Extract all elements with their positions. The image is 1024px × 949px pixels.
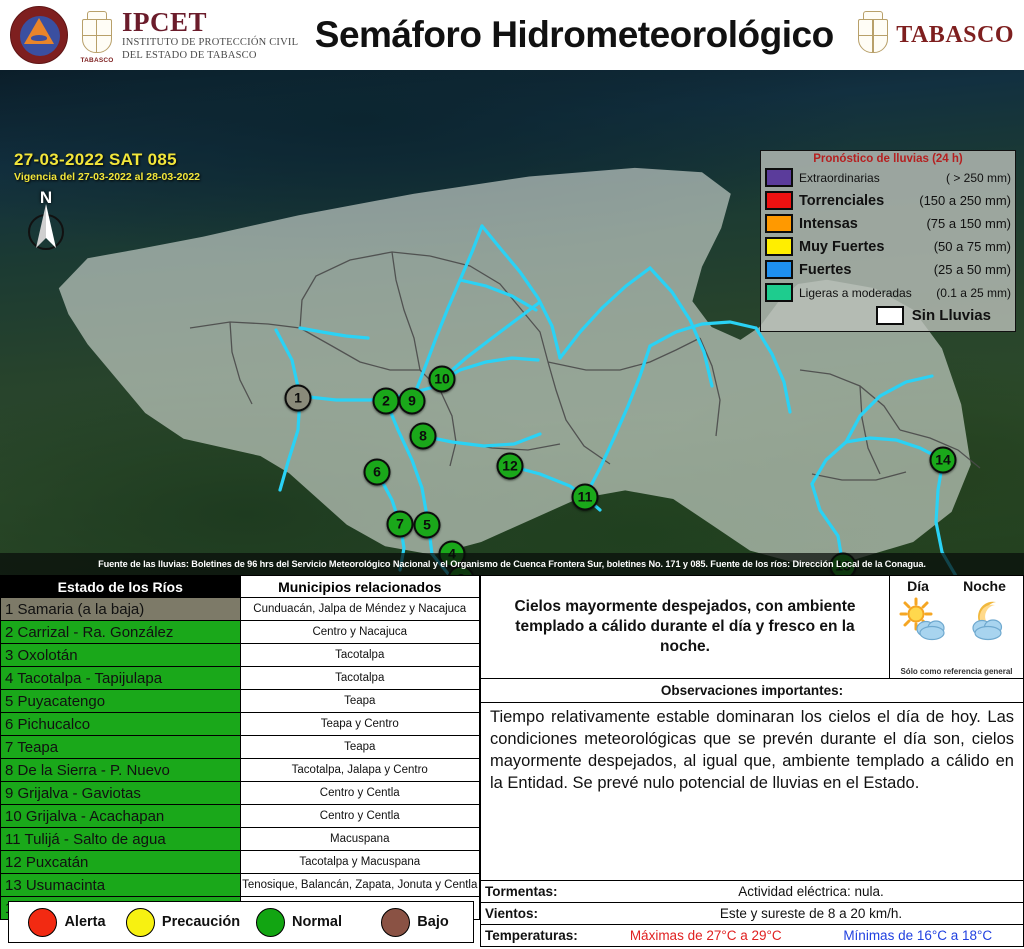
tabasco-brand-block: TABASCO [844, 9, 1014, 61]
rivers-table-body: 1 Samaria (a la baja)Cunduacán, Jalpa de… [1, 598, 480, 920]
legend-range-3: (50 a 75 mm) [928, 239, 1011, 254]
ipcet-org-block: IPCET INSTITUTO DE PROTECCIÓN CIVIL DEL … [122, 9, 298, 61]
status-legend: AlertaPrecauciónNormalBajo [8, 901, 474, 943]
river-name-cell-9: 9 Grijalva - Gaviotas [1, 782, 241, 805]
tabasco-coat-of-arms-icon: TABASCO [80, 9, 114, 61]
north-label: N [22, 188, 70, 208]
status-label-3: Bajo [417, 914, 448, 930]
river-marker-11[interactable]: 11 [572, 484, 599, 511]
municipios-cell-10: Centro y Centla [240, 805, 480, 828]
legend-row-2: Intensas(75 a 150 mm) [765, 212, 1011, 235]
temperatures-row: Temperaturas: Máximas de 27°C a 29°C Mín… [480, 925, 1024, 947]
river-name-cell-8: 8 De la Sierra - P. Nuevo [1, 759, 241, 782]
legend-range-2: (75 a 150 mm) [920, 216, 1011, 231]
municipios-cell-6: Teapa y Centro [240, 713, 480, 736]
river-marker-9[interactable]: 9 [399, 388, 426, 415]
winds-label: Vientos: [481, 906, 599, 921]
forecast-summary-text: Cielos mayormente despejados, con ambien… [480, 575, 890, 679]
legend-swatch-4 [765, 260, 793, 279]
temperatures-label: Temperaturas: [481, 928, 599, 943]
bulletin-validity: Vigencia del 27-03-2022 al 28-03-2022 [14, 171, 200, 183]
rainfall-legend-rows: Extraordinarias( > 250 mm)Torrenciales(1… [765, 166, 1011, 304]
legend-label-5: Ligeras a moderadas [799, 286, 912, 300]
river-marker-7[interactable]: 7 [387, 511, 414, 538]
rivers-table-header-row: Estado de los Ríos Municipios relacionad… [1, 576, 480, 598]
municipios-cell-7: Teapa [240, 736, 480, 759]
legend-label-2: Intensas [799, 216, 858, 232]
table-row[interactable]: 3 OxolotánTacotalpa [1, 644, 480, 667]
river-name-cell-10: 10 Grijalva - Acachapan [1, 805, 241, 828]
river-name-cell-2: 2 Carrizal - Ra. González [1, 621, 241, 644]
legend-row-1: Torrenciales(150 a 250 mm) [765, 189, 1011, 212]
storms-label: Tormentas: [481, 884, 599, 899]
legend-row-5: Ligeras a moderadas(0.1 a 25 mm) [765, 281, 1011, 304]
bulletin-date-box: 27-03-2022 SAT 085 Vigencia del 27-03-20… [14, 150, 200, 183]
river-marker-1[interactable]: 1 [285, 385, 312, 412]
table-row[interactable]: 4 Tacotalpa - TapijulapaTacotalpa [1, 667, 480, 690]
table-row[interactable]: 12 PuxcatánTacotalpa y Macuspana [1, 851, 480, 874]
winds-value: Este y sureste de 8 a 20 km/h. [599, 906, 1023, 921]
storms-row: Tormentas: Actividad eléctrica: nula. [480, 881, 1024, 903]
legend-swatch-2 [765, 214, 793, 233]
status-legend-item-2: Normal [241, 908, 357, 937]
municipios-col-header: Municipios relacionados [240, 576, 480, 598]
river-marker-6[interactable]: 6 [364, 459, 391, 486]
municipios-cell-11: Macuspana [240, 828, 480, 851]
legend-label-4: Fuertes [799, 262, 851, 278]
municipios-cell-12: Tacotalpa y Macuspana [240, 851, 480, 874]
municipios-cell-2: Centro y Nacajuca [240, 621, 480, 644]
status-dot-3 [381, 908, 410, 937]
legend-swatch-3 [765, 237, 793, 256]
semaforo-hidrometeorologico-page: TABASCO IPCET INSTITUTO DE PROTECCIÓN CI… [0, 0, 1024, 949]
municipios-cell-13: Tenosique, Balancán, Zapata, Jonuta y Ce… [240, 874, 480, 897]
ipcet-line-1: INSTITUTO DE PROTECCIÓN CIVIL [122, 38, 298, 49]
river-name-cell-6: 6 Pichucalco [1, 713, 241, 736]
north-arrow-icon: N [22, 188, 70, 258]
status-label-2: Normal [292, 914, 342, 930]
status-label-0: Alerta [64, 914, 105, 930]
legend-range-5: (0.1 a 25 mm) [930, 286, 1011, 300]
legend-swatch-1 [765, 191, 793, 210]
river-marker-2[interactable]: 2 [373, 388, 400, 415]
legend-row-no-rain: Sin Lluvias [765, 304, 1011, 327]
winds-row: Vientos: Este y sureste de 8 a 20 km/h. [480, 903, 1024, 925]
bottom-panels: Estado de los Ríos Municipios relacionad… [0, 575, 1024, 949]
observations-header: Observaciones importantes: [480, 679, 1024, 703]
page-header: TABASCO IPCET INSTITUTO DE PROTECCIÓN CI… [0, 0, 1024, 70]
legend-label-1: Torrenciales [799, 193, 884, 209]
river-marker-5[interactable]: 5 [414, 512, 441, 539]
river-name-cell-1: 1 Samaria (a la baja) [1, 598, 241, 621]
forecast-summary-row: Cielos mayormente despejados, con ambien… [480, 575, 1024, 679]
legend-range-0: ( > 250 mm) [940, 171, 1011, 185]
day-night-reference: Día Noche [890, 575, 1024, 679]
river-name-cell-3: 3 Oxolotán [1, 644, 241, 667]
legend-swatch-no-rain [876, 306, 904, 325]
municipios-cell-9: Centro y Centla [240, 782, 480, 805]
legend-label-no-rain: Sin Lluvias [912, 307, 991, 324]
bulletin-code: 27-03-2022 SAT 085 [14, 150, 200, 170]
status-legend-item-3: Bajo [357, 908, 473, 937]
legend-label-3: Muy Fuertes [799, 239, 884, 255]
rivers-col-header: Estado de los Ríos [1, 576, 241, 598]
rainfall-legend: Pronóstico de lluvias (24 h) Extraordina… [760, 150, 1016, 332]
table-row[interactable]: 7 TeapaTeapa [1, 736, 480, 759]
municipios-cell-3: Tacotalpa [240, 644, 480, 667]
status-label-1: Precaución [162, 914, 240, 930]
status-legend-item-1: Precaución [125, 908, 241, 937]
river-name-cell-13: 13 Usumacinta [1, 874, 241, 897]
table-row[interactable]: 2 Carrizal - Ra. GonzálezCentro y Nacaju… [1, 621, 480, 644]
municipios-cell-4: Tacotalpa [240, 667, 480, 690]
table-row[interactable]: 11 Tulijá - Salto de aguaMacuspana [1, 828, 480, 851]
ipcet-abbr: IPCET [122, 9, 298, 36]
storms-value: Actividad eléctrica: nula. [599, 884, 1023, 899]
ipcet-line-2: DEL ESTADO DE TABASCO [122, 51, 298, 62]
river-marker-8[interactable]: 8 [410, 423, 437, 450]
status-legend-item-0: Alerta [9, 908, 125, 937]
sun-cloud-icon [895, 596, 951, 642]
municipios-cell-1: Cunduacán, Jalpa de Méndez y Nacajuca [240, 598, 480, 621]
reference-note: Sólo como referencia general [900, 667, 1012, 678]
legend-row-4: Fuertes(25 a 50 mm) [765, 258, 1011, 281]
table-row[interactable]: 13 UsumacintaTenosique, Balancán, Zapata… [1, 874, 480, 897]
status-dot-0 [28, 908, 57, 937]
legend-range-4: (25 a 50 mm) [928, 262, 1011, 277]
table-row[interactable]: 10 Grijalva - AcachapanCentro y Centla [1, 805, 480, 828]
temperature-min: Mínimas de 16°C a 18°C [843, 928, 992, 943]
rivers-table: Estado de los Ríos Municipios relacionad… [0, 575, 480, 920]
municipios-cell-5: Teapa [240, 690, 480, 713]
rainfall-forecast-map[interactable]: 27-03-2022 SAT 085 Vigencia del 27-03-20… [0, 70, 1024, 575]
table-row[interactable]: 8 De la Sierra - P. NuevoTacotalpa, Jala… [1, 759, 480, 782]
temperature-max: Máximas de 27°C a 29°C [630, 928, 782, 943]
moon-cloud-icon [962, 596, 1018, 642]
status-dot-1 [126, 908, 155, 937]
river-marker-10[interactable]: 10 [429, 366, 456, 393]
rivers-panel: Estado de los Ríos Municipios relacionad… [0, 575, 480, 949]
day-label: Día [907, 578, 929, 594]
night-label: Noche [963, 578, 1006, 594]
legend-swatch-5 [765, 283, 793, 302]
table-row[interactable]: 6 PichucalcoTeapa y Centro [1, 713, 480, 736]
legend-row-0: Extraordinarias( > 250 mm) [765, 166, 1011, 189]
table-row[interactable]: 1 Samaria (a la baja)Cunduacán, Jalpa de… [1, 598, 480, 621]
river-marker-14[interactable]: 14 [930, 447, 957, 474]
tabasco-coat-of-arms-icon-right [856, 9, 890, 61]
municipios-cell-8: Tacotalpa, Jalapa y Centro [240, 759, 480, 782]
river-name-cell-12: 12 Puxcatán [1, 851, 241, 874]
map-source-note: Fuente de las lluvias: Boletines de 96 h… [0, 553, 1024, 575]
legend-range-1: (150 a 250 mm) [913, 193, 1011, 208]
river-name-cell-5: 5 Puyacatengo [1, 690, 241, 713]
table-row[interactable]: 5 PuyacatengoTeapa [1, 690, 480, 713]
tabasco-wordmark: TABASCO [896, 22, 1014, 49]
legend-label-0: Extraordinarias [799, 171, 880, 185]
river-name-cell-7: 7 Teapa [1, 736, 241, 759]
forecast-panel: Cielos mayormente despejados, con ambien… [480, 575, 1024, 949]
river-name-cell-4: 4 Tacotalpa - Tapijulapa [1, 667, 241, 690]
page-title: Semáforo Hidrometeorológico [304, 14, 844, 56]
legend-row-3: Muy Fuertes(50 a 75 mm) [765, 235, 1011, 258]
legend-swatch-0 [765, 168, 793, 187]
rainfall-legend-title: Pronóstico de lluvias (24 h) [765, 153, 1011, 165]
table-row[interactable]: 9 Grijalva - GaviotasCentro y Centla [1, 782, 480, 805]
status-dot-2 [256, 908, 285, 937]
civil-protection-seal-icon [10, 6, 68, 64]
shield-caption: TABASCO [79, 57, 115, 64]
river-name-cell-11: 11 Tulijá - Salto de agua [1, 828, 241, 851]
river-marker-12[interactable]: 12 [497, 453, 524, 480]
observations-body: Tiempo relativamente estable dominaran l… [480, 703, 1024, 881]
